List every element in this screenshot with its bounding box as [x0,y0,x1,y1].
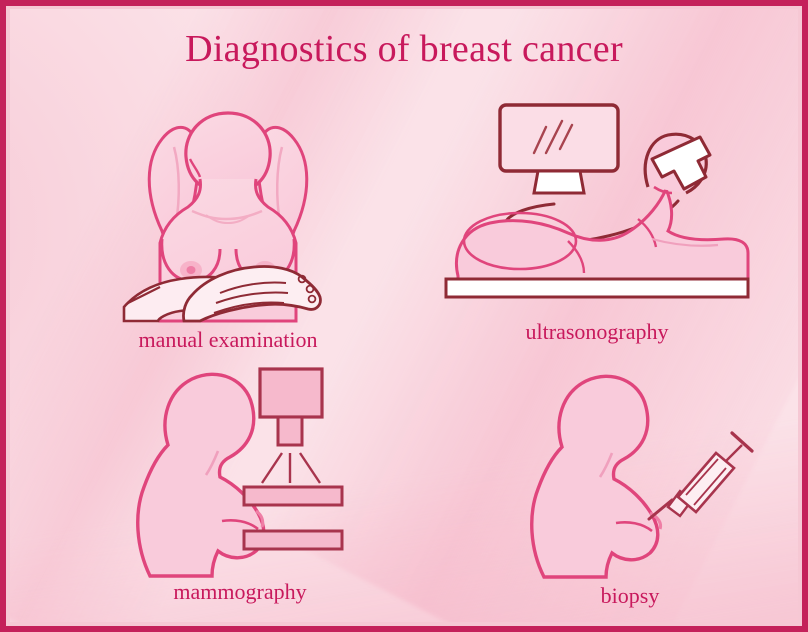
compression-plate-lower [244,531,342,549]
left-nipple [187,266,196,274]
poster-canvas: Diagnostics of breast cancer [10,9,798,622]
caption-biopsy: biopsy [510,583,750,609]
caption-mammography: mammography [110,579,370,605]
caption-manual-examination: manual examination [88,327,368,353]
ray-left [262,453,282,483]
ultrasonography-illustration [442,91,752,306]
monitor-stand [534,171,584,193]
monitor-screen [500,105,618,171]
syringe-needle [649,500,672,519]
ray-right [300,453,320,483]
panel-manual-examination: manual examination [88,81,368,321]
plunger-shaft [726,445,742,461]
manual-examination-illustration [88,81,368,321]
syringe-barrel [678,453,734,512]
panel-ultrasonography: ultrasonography [442,91,752,306]
exam-table [446,279,748,297]
profile-body [532,376,658,577]
page-title: Diagnostics of breast cancer [10,27,798,71]
compression-plate-upper [244,487,342,505]
panel-biopsy: biopsy [510,367,750,577]
xray-neck [278,417,302,445]
plunger-handle [732,433,752,451]
panel-mammography: mammography [110,361,370,576]
xray-head [260,369,322,417]
poster-root: Diagnostics of breast cancer [0,0,808,632]
caption-ultrasonography: ultrasonography [442,319,752,345]
biopsy-illustration [510,367,750,577]
mammography-illustration [110,361,370,576]
